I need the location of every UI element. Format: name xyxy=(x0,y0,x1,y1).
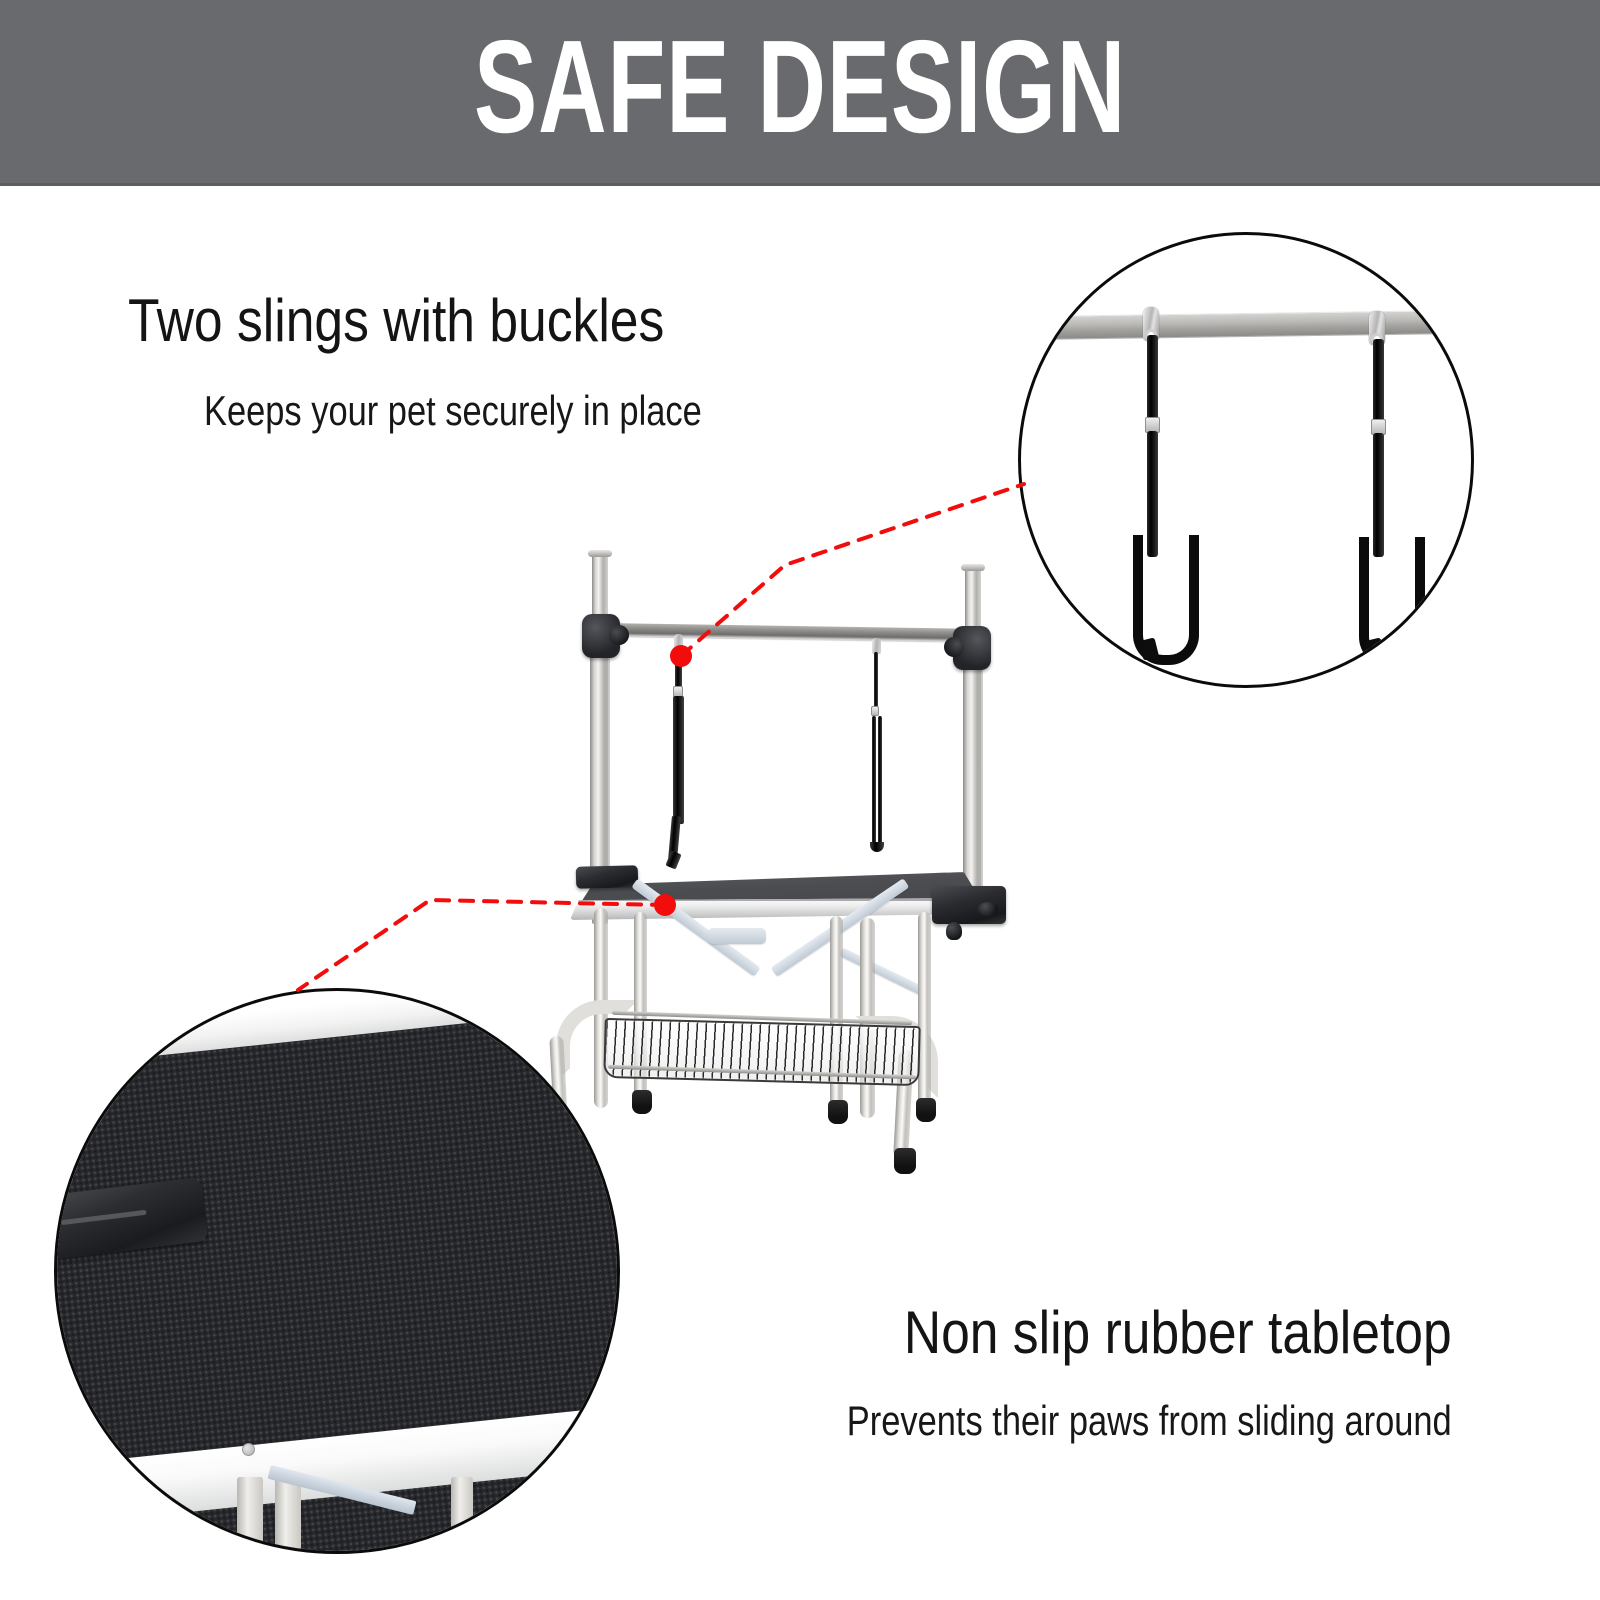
header-banner: SAFE DESIGN xyxy=(0,0,1600,186)
sling-2-adjuster xyxy=(871,706,879,716)
tabletop-subtext: Prevents their paws from sliding around xyxy=(847,1396,1452,1446)
banner-title: SAFE DESIGN xyxy=(224,12,1376,162)
arm-clamp-screw xyxy=(946,922,962,940)
foot-cap-far-right xyxy=(916,1098,936,1122)
left-post-cap xyxy=(588,550,612,557)
closeup-tabletop-screw xyxy=(242,1443,255,1456)
detail-circle-slings xyxy=(1018,232,1474,688)
leg-far-right xyxy=(918,912,931,1106)
callout-anchor-dot-slings xyxy=(670,645,692,667)
callout-anchor-dot-tabletop xyxy=(654,894,676,916)
infographic-canvas: SAFE DESIGN Two slings with buckles Keep… xyxy=(0,0,1600,1600)
closeup-sling-1-strap-upper xyxy=(1147,335,1158,421)
sling-2-loop-bottom xyxy=(870,842,884,852)
foot-cap-front-right xyxy=(894,1148,916,1174)
slings-heading: Two slings with buckles xyxy=(128,288,715,354)
closeup-table-legs xyxy=(207,1477,527,1554)
foot-cap-back-right xyxy=(828,1100,848,1124)
arm-clamp-knob xyxy=(978,902,998,916)
callout-text-tabletop: Non slip rubber tabletop Prevents their … xyxy=(714,1300,1452,1446)
detail-circle-tabletop xyxy=(54,988,620,1554)
sling-2-upper-strap xyxy=(874,652,878,710)
right-post-cap xyxy=(961,564,985,571)
folding-brace-cross xyxy=(839,947,929,997)
left-lower-post xyxy=(590,630,610,892)
horizontal-grooming-arm xyxy=(616,623,974,642)
product-illustration xyxy=(560,530,1060,1250)
closeup-leg-a xyxy=(237,1477,263,1554)
sling-2-strap-a xyxy=(872,716,876,848)
sling-bar-closeup xyxy=(1031,310,1461,340)
foot-cap-back-left xyxy=(632,1090,652,1114)
folding-brace-hinge xyxy=(708,928,766,944)
left-arm-knuckle xyxy=(582,614,620,658)
tabletop-heading: Non slip rubber tabletop xyxy=(818,1300,1452,1366)
right-arm-knuckle xyxy=(953,626,991,670)
sling-2-strap-b xyxy=(878,716,882,846)
closeup-leg-c xyxy=(451,1477,473,1554)
callout-text-slings: Two slings with buckles Keeps your pet s… xyxy=(128,288,811,436)
closeup-leg-b xyxy=(275,1477,301,1554)
left-post-bracket xyxy=(576,865,639,889)
closeup-sling-2-strap-upper xyxy=(1373,339,1384,423)
sling-1-strap xyxy=(673,696,684,824)
slings-subtext: Keeps your pet securely in place xyxy=(204,386,702,436)
